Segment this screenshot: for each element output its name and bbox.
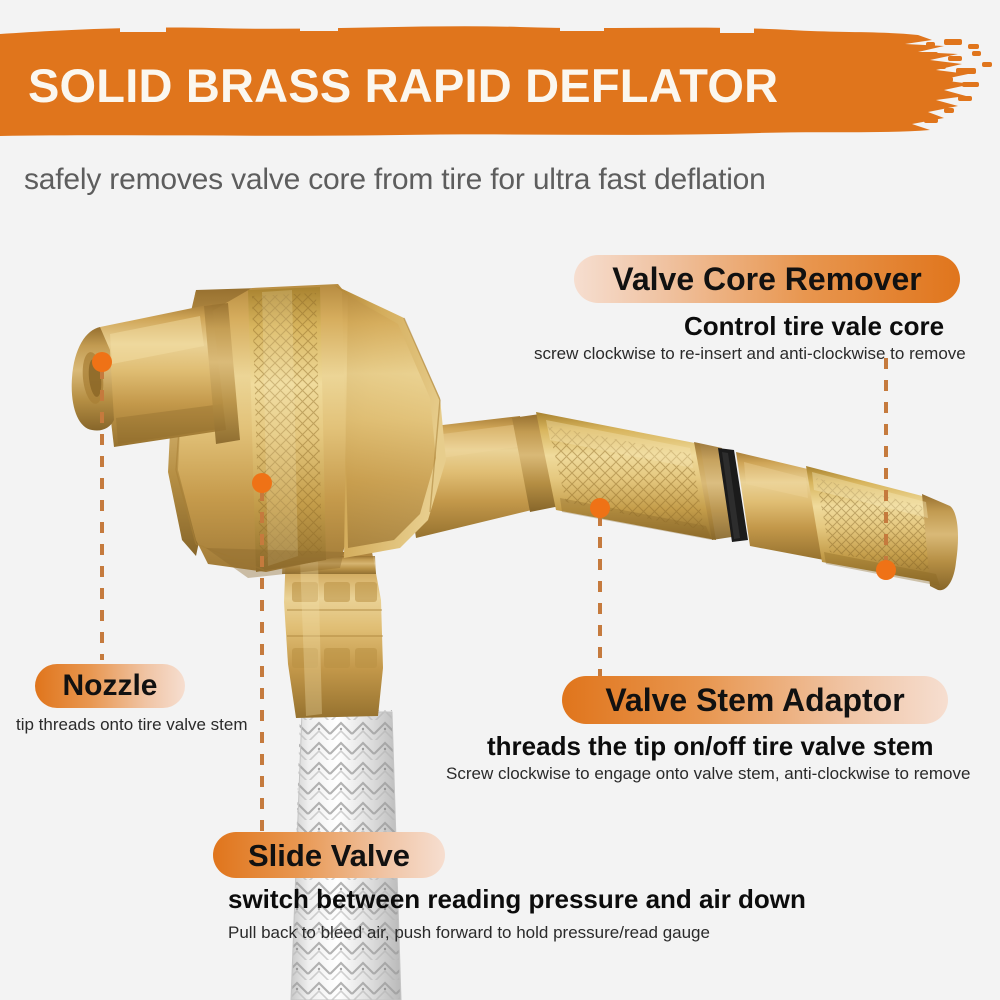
marker-dot-valve-core-remover [876,560,896,580]
callout-headline-valve-stem-adaptor: threads the tip on/off tire valve stem [487,733,933,759]
callout-pill-valve-stem-adaptor[interactable]: Valve Stem Adaptor [562,676,948,724]
callout-detail-valve-stem-adaptor: Screw clockwise to engage onto valve ste… [446,765,970,782]
marker-dot-valve-stem-adaptor [590,498,610,518]
callout-headline-valve-core-remover: Control tire vale core [684,313,944,339]
callout-pill-slide-valve[interactable]: Slide Valve [213,832,445,878]
callout-pill-nozzle[interactable]: Nozzle [35,664,185,708]
callout-pill-valve-core-remover[interactable]: Valve Core Remover [574,255,960,303]
leader-lines-layer [0,0,1000,1000]
marker-dot-slide-valve [252,473,272,493]
infographic-page: SOLID BRASS RAPID DEFLATOR safely remove… [0,0,1000,1000]
marker-dot-nozzle [92,352,112,372]
callout-detail-valve-core-remover: screw clockwise to re-insert and anti-cl… [534,345,966,362]
callout-headline-slide-valve: switch between reading pressure and air … [228,886,806,912]
callout-detail-slide-valve: Pull back to bleed air, push forward to … [228,924,710,941]
callout-detail-nozzle: tip threads onto tire valve stem [16,716,248,733]
